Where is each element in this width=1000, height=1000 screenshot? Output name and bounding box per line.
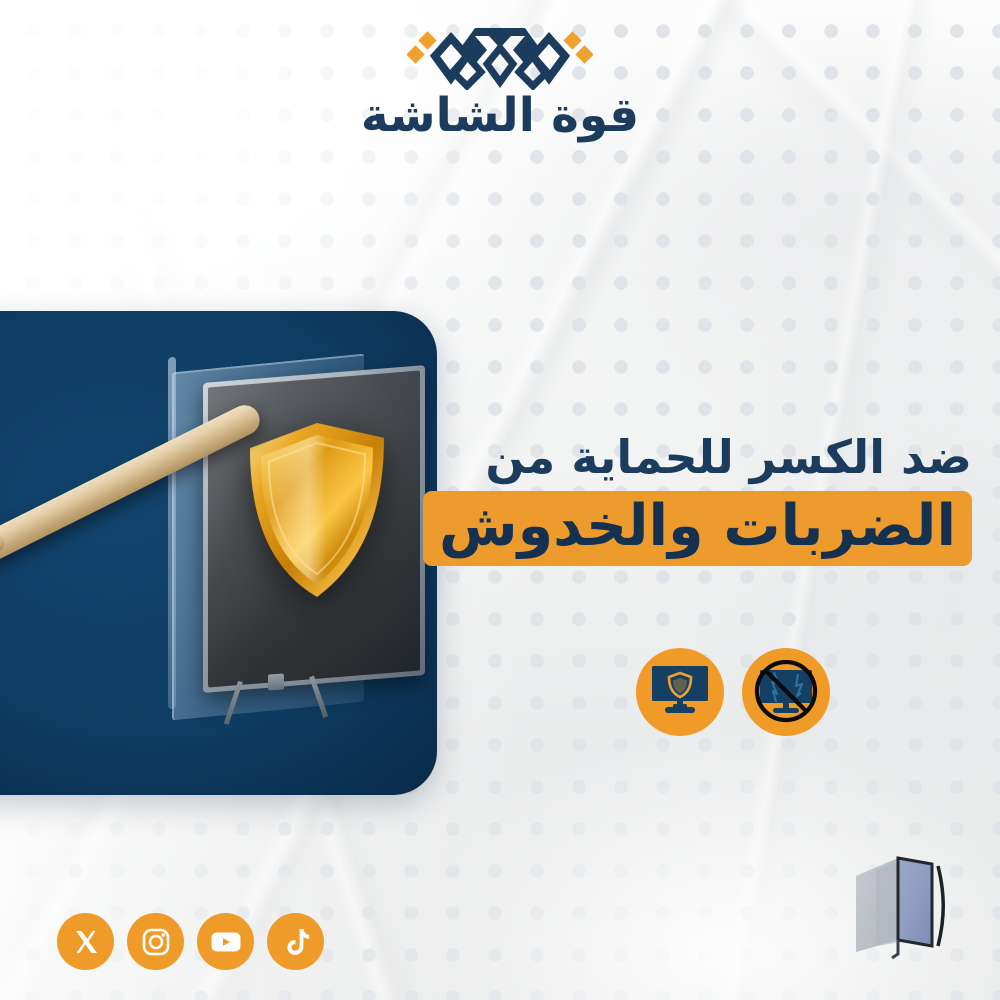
headline-highlight-bar: الضربات والخدوش [423,491,972,566]
feature-badges [636,648,830,736]
social-link-tiktok[interactable] [267,913,324,970]
tiktok-icon [282,927,310,957]
product-hero-card [0,311,437,795]
tv-screen-protector-icon [846,846,974,974]
geometric-monogram-icon [407,24,593,90]
cracked-tv-prohibited-icon [752,660,820,724]
social-link-instagram[interactable] [127,913,184,970]
x-twitter-icon [72,928,100,956]
protected-screen-badge [636,648,724,736]
hero-scene [0,311,437,795]
gold-shield-icon [246,416,388,605]
social-link-x-twitter[interactable] [57,913,114,970]
instagram-icon [141,927,171,957]
headline-block: ضد الكسر للحماية من الضربات والخدوش [392,430,972,566]
social-links[interactable] [57,913,324,970]
ad-poster: قوة الشاشة [0,0,1000,1000]
brand-logo: قوة الشاشة [0,24,1000,139]
youtube-icon [210,930,242,954]
no-cracked-screen-badge [742,648,830,736]
tv-with-shield-icon [649,663,711,721]
social-link-youtube[interactable] [197,913,254,970]
brand-name: قوة الشاشة [0,92,1000,139]
headline-line-2: الضربات والخدوش [439,495,956,558]
tv-stand-neck [268,673,284,690]
tv-stand [224,675,328,728]
headline-line-1: ضد الكسر للحماية من [392,430,972,484]
